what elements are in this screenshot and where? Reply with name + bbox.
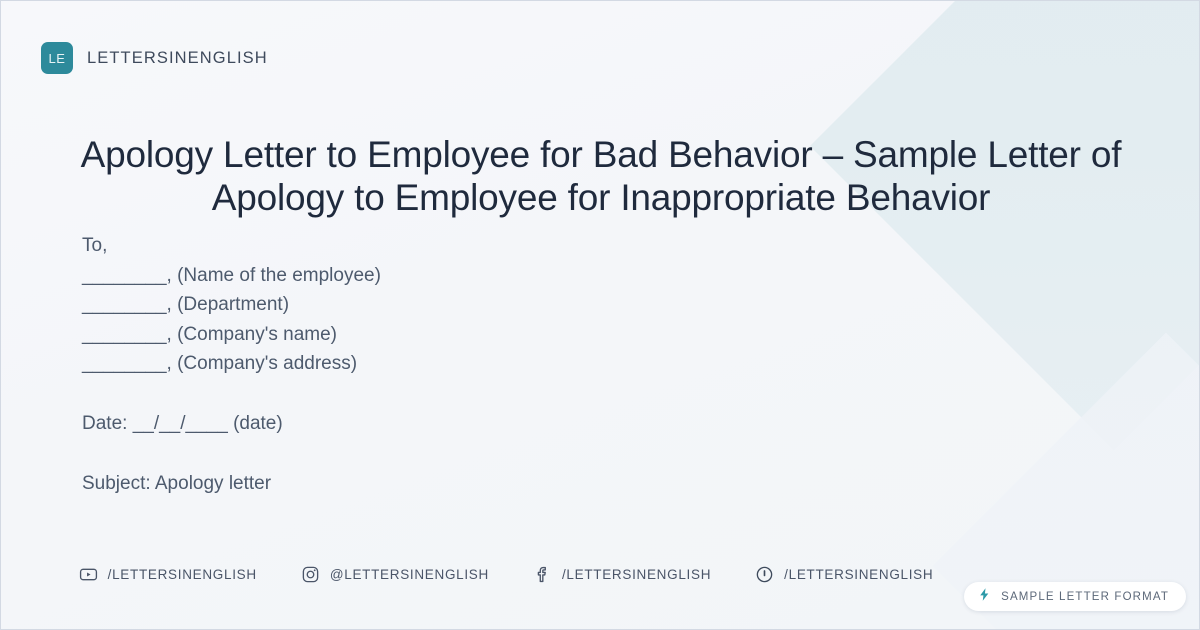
instagram-icon: [301, 565, 320, 584]
youtube-icon: [79, 565, 98, 584]
social-link-facebook[interactable]: /LETTERSINENGLISH: [533, 565, 711, 584]
status-badge[interactable]: SAMPLE LETTER FORMAT: [964, 582, 1186, 611]
letter-salutation: To,: [82, 231, 782, 261]
letter-subject-line: Subject: Apology letter: [82, 469, 782, 499]
letter-spacer: [82, 439, 782, 469]
social-handle: /LETTERSINENGLISH: [108, 567, 257, 582]
letter-date-line: Date: __/__/____ (date): [82, 409, 782, 439]
poster-canvas: LE LETTERSINENGLISH Apology Letter to Em…: [0, 0, 1200, 630]
social-handle: @LETTERSINENGLISH: [330, 567, 489, 582]
lightning-bolt-icon: [977, 587, 992, 607]
facebook-icon: [533, 565, 552, 584]
letter-address-line: ________, (Company's address): [82, 349, 782, 379]
letter-address-line: ________, (Name of the employee): [82, 261, 782, 291]
page-title: Apology Letter to Employee for Bad Behav…: [61, 133, 1141, 220]
letter-spacer: [82, 379, 782, 409]
status-badge-label: SAMPLE LETTER FORMAT: [1001, 591, 1169, 603]
background-diamond-primary: [810, 0, 1200, 450]
brand-logo[interactable]: LE LETTERSINENGLISH: [41, 42, 268, 74]
letter-address-line: ________, (Company's name): [82, 320, 782, 350]
pinterest-icon: [755, 565, 774, 584]
social-link-instagram[interactable]: @LETTERSINENGLISH: [301, 565, 489, 584]
social-handle: /LETTERSINENGLISH: [784, 567, 933, 582]
social-link-pinterest[interactable]: /LETTERSINENGLISH: [755, 565, 933, 584]
letter-address-line: ________, (Department): [82, 290, 782, 320]
social-handle: /LETTERSINENGLISH: [562, 567, 711, 582]
brand-mark-icon: LE: [41, 42, 73, 74]
letter-body: To, ________, (Name of the employee) ___…: [82, 231, 782, 498]
social-links: /LETTERSINENGLISH @LETTERSINENGLISH /LET…: [1, 565, 1011, 584]
social-link-youtube[interactable]: /LETTERSINENGLISH: [79, 565, 257, 584]
brand-name: LETTERSINENGLISH: [87, 49, 268, 68]
